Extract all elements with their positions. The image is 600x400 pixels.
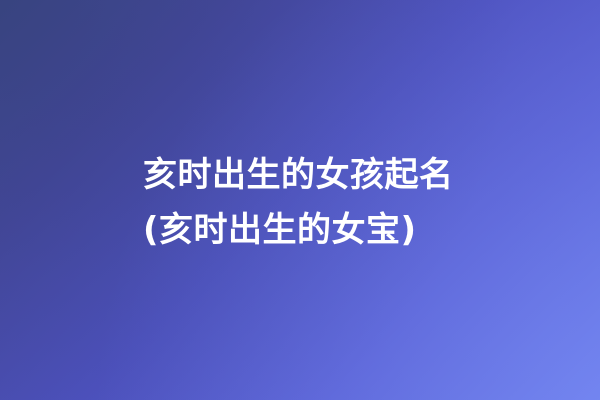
headline-line-1: 亥时出生的女孩起名 (143, 148, 454, 203)
title-card-banner: 亥时出生的女孩起名 (亥时出生的女宝) (0, 0, 600, 400)
headline-line-2: (亥时出生的女宝) (143, 203, 454, 258)
headline: 亥时出生的女孩起名 (亥时出生的女宝) (143, 148, 454, 258)
